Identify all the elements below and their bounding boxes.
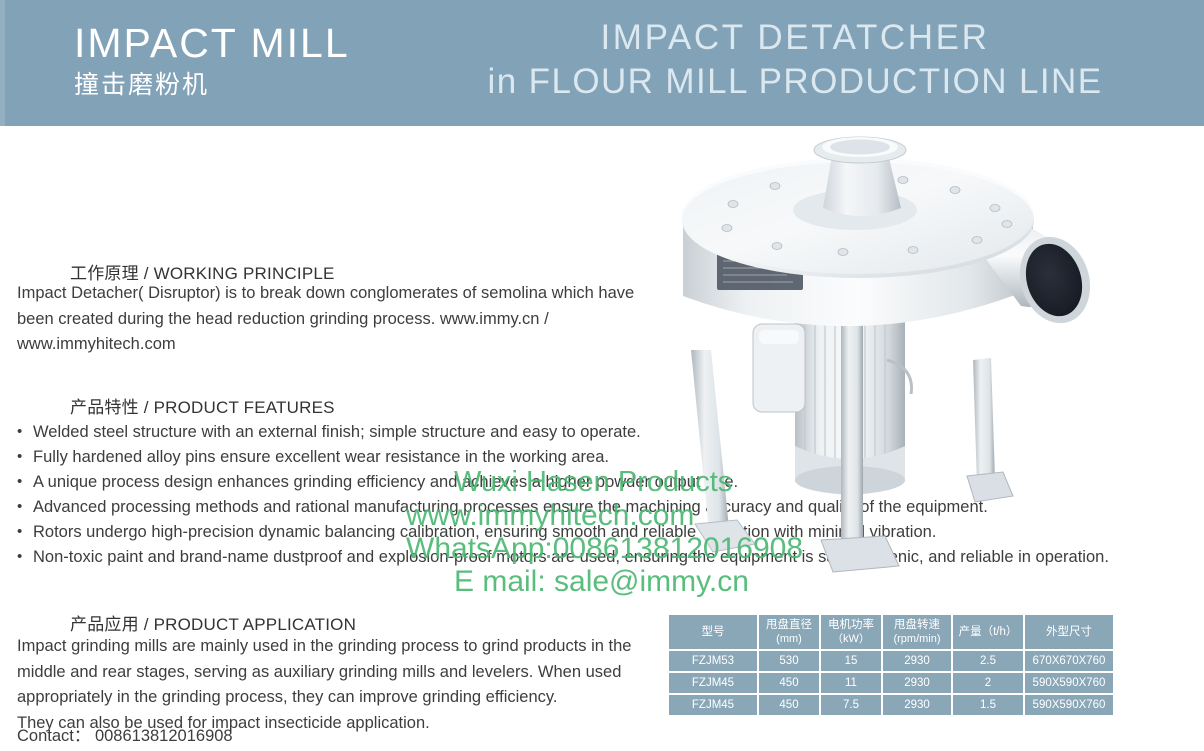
cell-model: FZJM45	[669, 695, 757, 715]
cell-model: FZJM53	[669, 651, 757, 671]
header-right-title-group: IMPACT DETATCHER in FLOUR MILL PRODUCTIO…	[400, 16, 1190, 104]
table-row: FZJM45 450 7.5 2930 1.5 590X590X760	[669, 695, 1113, 715]
cell-capacity: 1.5	[953, 695, 1023, 715]
working-principle-body: Impact Detacher( Disruptor) is to break …	[17, 281, 662, 358]
specification-table: 型号 甩盘直径 (mm) 电机功率 （kW） 甩盘转速 (rpm/min) 产量…	[667, 613, 1115, 717]
cell-diameter: 450	[759, 695, 819, 715]
product-photo	[655, 128, 1115, 593]
column-header-dimensions: 外型尺寸	[1025, 615, 1113, 649]
cell-dimensions: 670X670X760	[1025, 651, 1113, 671]
cell-power: 15	[821, 651, 881, 671]
column-header-model: 型号	[669, 615, 757, 649]
contact-phone-line: Contact： 008613812016908	[17, 722, 233, 746]
cell-dimensions: 590X590X760	[1025, 695, 1113, 715]
cell-dimensions: 590X590X760	[1025, 673, 1113, 693]
product-application-heading: 产品应用 / PRODUCT APPLICATION	[70, 610, 356, 635]
cell-diameter: 450	[759, 673, 819, 693]
column-header-disc-diameter: 甩盘直径 (mm)	[759, 615, 819, 649]
cell-model: FZJM45	[669, 673, 757, 693]
header-subtitle-line1: IMPACT DETATCHER	[400, 16, 1190, 60]
table-row: FZJM53 530 15 2930 2.5 670X670X760	[669, 651, 1113, 671]
cell-speed: 2930	[883, 651, 951, 671]
column-header-disc-speed: 甩盘转速 (rpm/min)	[883, 615, 951, 649]
support-leg-right	[967, 358, 1013, 502]
product-application-body: Impact grinding mills are mainly used in…	[17, 634, 667, 736]
cell-speed: 2930	[883, 695, 951, 715]
product-features-heading: 产品特性 / PRODUCT FEATURES	[70, 393, 335, 418]
motor-junction-box	[753, 324, 805, 412]
page-header-band: IMPACT MILL 撞击磨粉机 IMPACT DETATCHER in FL…	[0, 0, 1204, 126]
application-line-3: appropriately in the grinding process, t…	[17, 685, 667, 711]
cell-diameter: 530	[759, 651, 819, 671]
cell-power: 11	[821, 673, 881, 693]
column-header-motor-power: 电机功率 （kW）	[821, 615, 881, 649]
cell-capacity: 2.5	[953, 651, 1023, 671]
cell-power: 7.5	[821, 695, 881, 715]
header-subtitle-line2: in FLOUR MILL PRODUCTION LINE	[400, 60, 1190, 104]
cell-speed: 2930	[883, 673, 951, 693]
table-row: FZJM45 450 11 2930 2 590X590X760	[669, 673, 1113, 693]
column-header-capacity: 产量（t/h）	[953, 615, 1023, 649]
application-line-1: Impact grinding mills are mainly used in…	[17, 634, 667, 660]
table-header-row: 型号 甩盘直径 (mm) 电机功率 （kW） 甩盘转速 (rpm/min) 产量…	[669, 615, 1113, 649]
cell-capacity: 2	[953, 673, 1023, 693]
header-edge-strip	[0, 0, 5, 126]
application-line-2: middle and rear stages, serving as auxil…	[17, 660, 667, 686]
support-leg-left	[691, 350, 755, 552]
